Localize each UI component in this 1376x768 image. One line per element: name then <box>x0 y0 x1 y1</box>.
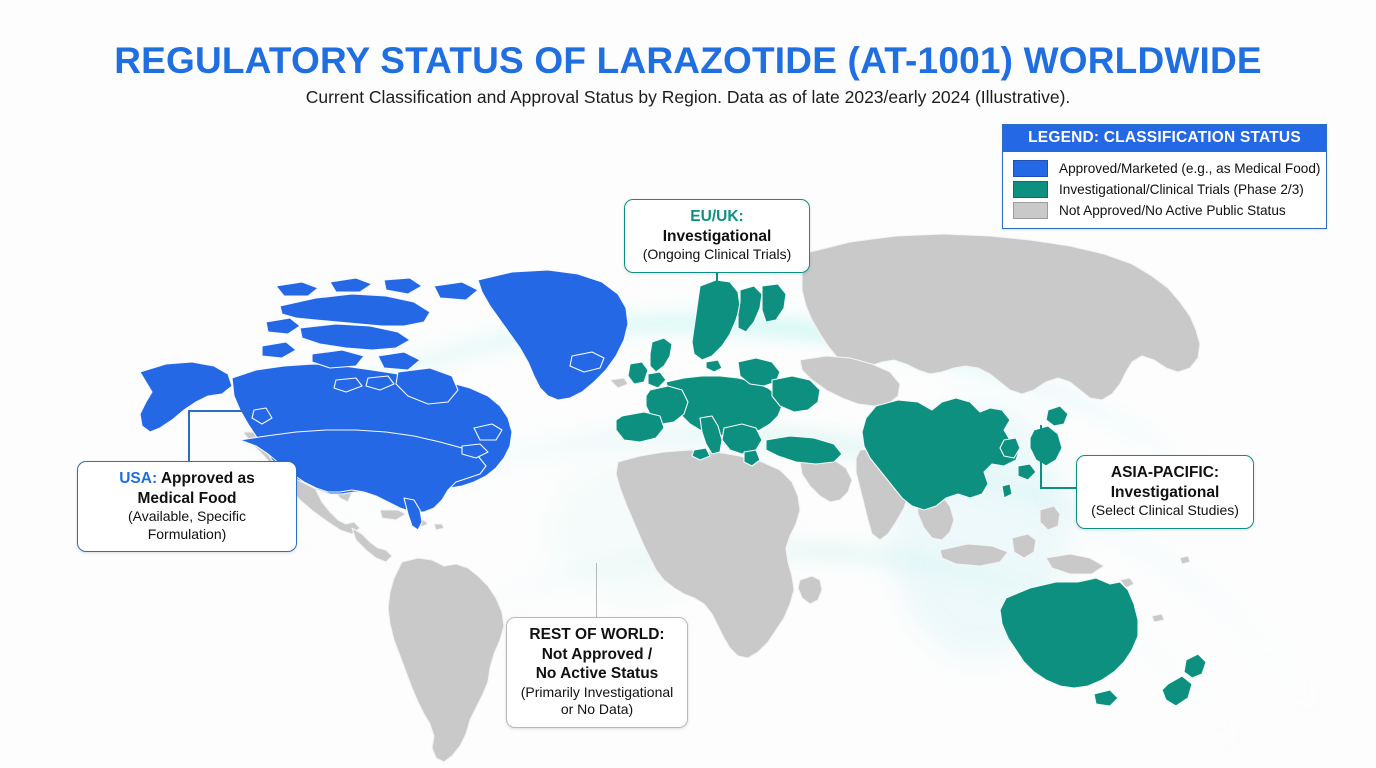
region-central-america <box>352 528 392 562</box>
region-arctic-island-6 <box>276 282 318 296</box>
callout-eu[interactable]: EU/UK: Investigational (Ongoing Clinical… <box>624 199 810 273</box>
callout-apac-status: Investigational <box>1087 483 1243 503</box>
legend-swatch-approved-icon <box>1013 160 1048 177</box>
region-uk-south <box>648 372 666 388</box>
region-madagascar <box>798 576 822 604</box>
legend-item-approved[interactable]: Approved/Marketed (e.g., as Medical Food… <box>1003 158 1326 179</box>
legend-panel: LEGEND: CLASSIFICATION STATUS Approved/M… <box>1002 124 1327 229</box>
callout-row-detail: (Primarily Investigational <box>517 684 677 702</box>
callout-eu-line1: EU/UK: Investigational <box>635 207 799 246</box>
region-alaska <box>140 362 232 432</box>
region-banks-island <box>266 318 300 334</box>
legend-title: LEGEND: CLASSIFICATION STATUS <box>1003 125 1326 152</box>
region-ireland <box>628 362 648 384</box>
callout-apac[interactable]: ASIA-PACIFIC: Investigational (Select Cl… <box>1076 455 1254 529</box>
callout-row-status: Not Approved / <box>517 645 677 665</box>
callout-row-status2: No Active Status <box>517 664 677 684</box>
region-hokkaido <box>1046 406 1068 426</box>
callout-usa[interactable]: USA: Approved as Medical Food (Available… <box>77 461 297 552</box>
region-australia <box>1000 578 1138 688</box>
region-arctic-island-7 <box>330 278 372 292</box>
legend-label-approved: Approved/Marketed (e.g., as Medical Food… <box>1059 161 1320 176</box>
callout-usa-status2: Medical Food <box>88 489 286 509</box>
legend-item-investigational[interactable]: Investigational/Clinical Trials (Phase 2… <box>1003 179 1326 200</box>
legend-item-not-approved[interactable]: Not Approved/No Active Public Status <box>1003 200 1326 221</box>
infographic-root: REGULATORY STATUS OF LARAZOTIDE (AT-1001… <box>0 0 1376 768</box>
callout-apac-detail: (Select Clinical Studies) <box>1087 502 1243 520</box>
leader-line-usa-horizontal <box>188 410 250 412</box>
callout-usa-detail: (Available, Specific Formulation) <box>88 508 286 543</box>
region-canadian-arctic-2 <box>300 324 410 350</box>
legend-swatch-not-approved-icon <box>1013 202 1048 219</box>
region-canadian-arctic-1 <box>280 294 430 326</box>
callout-usa-line1: USA: Approved as <box>88 469 286 489</box>
callout-eu-status: Investigational <box>663 228 772 245</box>
region-cuba <box>380 510 406 520</box>
callout-usa-region: USA: <box>119 470 157 487</box>
callout-usa-status: Approved as <box>161 470 255 487</box>
leader-line-usa-vertical <box>188 410 190 462</box>
region-island-speck-3 <box>610 378 628 388</box>
legend-items: Approved/Marketed (e.g., as Medical Food… <box>1003 152 1326 228</box>
callout-eu-detail: (Ongoing Clinical Trials) <box>635 246 799 264</box>
region-united-kingdom <box>650 338 672 372</box>
region-fiji <box>1152 614 1164 622</box>
callout-rest-of-world[interactable]: REST OF WORLD: Not Approved / No Active … <box>506 617 688 728</box>
legend-label-investigational: Investigational/Clinical Trials (Phase 2… <box>1059 182 1304 197</box>
region-middle-east <box>800 458 852 502</box>
leader-line-apac-vertical <box>1040 425 1042 488</box>
leader-line-apac-horizontal <box>1040 487 1078 489</box>
region-south-america <box>388 558 504 762</box>
region-puerto-rico <box>434 524 444 530</box>
region-new-zealand-south <box>1162 676 1192 706</box>
region-iberia <box>616 412 664 442</box>
leader-line-row-vertical <box>596 563 597 619</box>
callout-row-region: REST OF WORLD: <box>517 625 677 645</box>
callout-apac-region: ASIA-PACIFIC: <box>1087 463 1243 483</box>
region-denmark <box>706 360 722 372</box>
legend-swatch-investigational-icon <box>1013 181 1048 198</box>
region-victoria-island <box>262 342 296 358</box>
legend-label-not-approved: Not Approved/No Active Public Status <box>1059 203 1286 218</box>
region-finland <box>762 284 786 322</box>
page-subtitle: Current Classification and Approval Stat… <box>0 87 1376 108</box>
region-island-speck-1 <box>1180 556 1190 564</box>
region-ellesmere-island <box>434 282 478 300</box>
callout-row-detail2: or No Data) <box>517 701 677 719</box>
region-arctic-island-8 <box>384 278 422 294</box>
page-title: REGULATORY STATUS OF LARAZOTIDE (AT-1001… <box>0 40 1376 82</box>
region-tasmania <box>1094 690 1118 706</box>
callout-eu-region: EU/UK: <box>690 208 743 225</box>
region-new-zealand-north <box>1184 654 1206 678</box>
